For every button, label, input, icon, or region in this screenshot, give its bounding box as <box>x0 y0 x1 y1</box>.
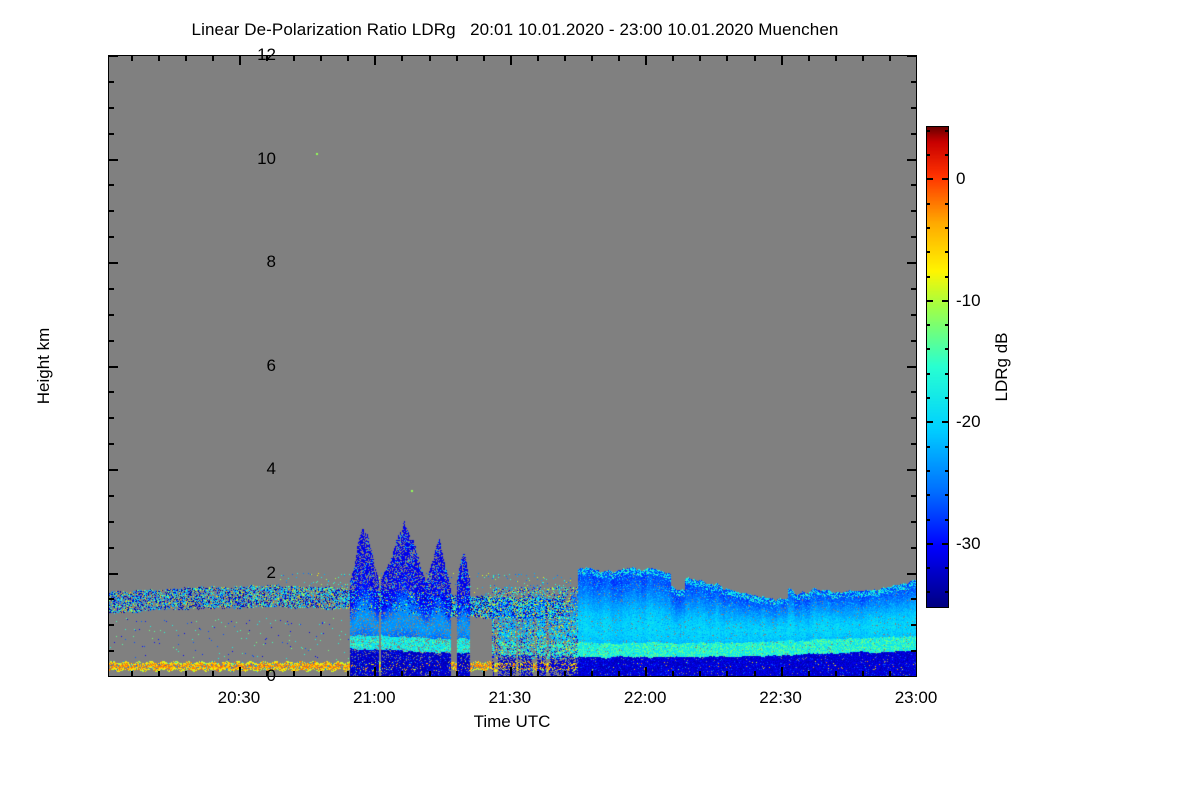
colorbar-tick-minor <box>945 348 949 350</box>
y-tick-minor <box>109 288 114 290</box>
y-tick-minor <box>911 417 916 419</box>
x-tick-major <box>781 667 783 676</box>
x-tick-major <box>239 667 241 676</box>
colorbar-gradient <box>926 126 949 608</box>
y-tick-minor <box>911 391 916 393</box>
x-tick-minor <box>808 56 810 61</box>
x-tick-minor <box>429 56 431 61</box>
x-tick-major <box>374 667 376 676</box>
x-tick-label: 22:30 <box>759 688 802 708</box>
y-tick-major <box>109 366 118 368</box>
y-tick-minor <box>109 184 114 186</box>
heatmap-canvas <box>109 56 917 677</box>
y-tick-minor <box>911 443 916 445</box>
colorbar-tick-minor <box>926 397 930 399</box>
x-tick-minor <box>754 56 756 61</box>
x-tick-minor <box>212 56 214 61</box>
x-tick-minor <box>537 56 539 61</box>
colorbar-tick-minor <box>945 446 949 448</box>
y-tick-minor <box>109 107 114 109</box>
x-tick-minor <box>591 671 593 676</box>
y-tick-minor <box>911 210 916 212</box>
x-tick-minor <box>456 671 458 676</box>
x-tick-minor <box>131 671 133 676</box>
y-tick-major <box>109 469 118 471</box>
x-tick-minor <box>483 56 485 61</box>
colorbar-tick-minor <box>926 567 930 569</box>
colorbar-tick-minor <box>945 494 949 496</box>
colorbar-tick-minor <box>945 227 949 229</box>
y-tick-minor <box>109 314 114 316</box>
colorbar-tick-minor <box>945 154 949 156</box>
x-tick-major <box>781 56 783 65</box>
y-tick-minor <box>109 495 114 497</box>
y-tick-minor <box>911 81 916 83</box>
colorbar-tick-major <box>942 421 949 423</box>
x-tick-major <box>916 667 917 676</box>
colorbar-tick-label: -10 <box>956 291 981 311</box>
colorbar-tick-minor <box>945 373 949 375</box>
y-tick-minor <box>109 443 114 445</box>
x-tick-label: 23:00 <box>895 688 938 708</box>
colorbar-tick-minor <box>945 567 949 569</box>
colorbar-tick-minor <box>926 348 930 350</box>
x-tick-minor <box>401 671 403 676</box>
x-tick-minor <box>889 671 891 676</box>
y-tick-minor <box>109 391 114 393</box>
x-tick-minor <box>347 671 349 676</box>
x-tick-major <box>510 667 512 676</box>
colorbar-tick-major <box>926 421 933 423</box>
colorbar-tick-minor <box>945 470 949 472</box>
radar-figure: Linear De-Polarization Ratio LDRg 20:01 … <box>0 0 1200 800</box>
x-tick-minor <box>835 56 837 61</box>
colorbar-tick-minor <box>926 373 930 375</box>
y-tick-major <box>109 55 118 57</box>
x-tick-minor <box>862 671 864 676</box>
plot-area <box>108 55 917 677</box>
y-tick-label: 6 <box>267 356 276 376</box>
colorbar-tick-minor <box>926 130 930 132</box>
colorbar-tick-label: -20 <box>956 412 981 432</box>
y-axis-title: Height km <box>34 328 54 405</box>
y-tick-minor <box>109 210 114 212</box>
x-tick-minor <box>537 671 539 676</box>
y-tick-minor <box>109 650 114 652</box>
colorbar-tick-minor <box>945 519 949 521</box>
x-tick-minor <box>347 56 349 61</box>
x-tick-minor <box>564 56 566 61</box>
x-tick-minor <box>185 671 187 676</box>
colorbar-tick-minor <box>926 591 930 593</box>
y-tick-major <box>907 262 916 264</box>
x-tick-major <box>239 56 241 65</box>
colorbar-title: LDRg dB <box>992 333 1012 402</box>
x-tick-minor <box>429 671 431 676</box>
y-tick-label: 12 <box>257 45 276 65</box>
colorbar-tick-minor <box>945 276 949 278</box>
page-title: Linear De-Polarization Ratio LDRg 20:01 … <box>0 20 1030 40</box>
x-tick-minor <box>889 56 891 61</box>
x-tick-minor <box>672 671 674 676</box>
colorbar-tick-minor <box>926 276 930 278</box>
y-tick-major <box>109 262 118 264</box>
colorbar-tick-major <box>942 178 949 180</box>
y-tick-minor <box>911 236 916 238</box>
y-tick-major <box>907 159 916 161</box>
colorbar-tick-minor <box>926 251 930 253</box>
y-tick-minor <box>911 340 916 342</box>
y-tick-minor <box>109 236 114 238</box>
y-tick-minor <box>109 340 114 342</box>
colorbar-tick-minor <box>945 130 949 132</box>
x-tick-label: 21:30 <box>488 688 531 708</box>
y-tick-minor <box>109 81 114 83</box>
x-tick-minor <box>212 671 214 676</box>
x-tick-minor <box>293 56 295 61</box>
y-tick-minor <box>911 547 916 549</box>
x-tick-minor <box>808 671 810 676</box>
y-tick-minor <box>109 598 114 600</box>
colorbar-tick-major <box>926 543 933 545</box>
x-tick-minor <box>564 671 566 676</box>
colorbar-tick-major <box>926 300 933 302</box>
y-tick-major <box>907 469 916 471</box>
x-tick-minor <box>699 671 701 676</box>
colorbar-tick-label: 0 <box>956 169 965 189</box>
y-tick-minor <box>911 133 916 135</box>
x-tick-minor <box>835 671 837 676</box>
y-tick-minor <box>911 495 916 497</box>
y-tick-minor <box>109 133 114 135</box>
colorbar-tick-minor <box>945 324 949 326</box>
x-tick-major <box>645 56 647 65</box>
x-tick-minor <box>618 56 620 61</box>
colorbar-tick-minor <box>945 203 949 205</box>
y-tick-major <box>907 55 916 57</box>
y-tick-label: 10 <box>257 149 276 169</box>
colorbar-tick-major <box>926 178 933 180</box>
colorbar-tick-minor <box>926 324 930 326</box>
y-tick-major <box>907 573 916 575</box>
y-tick-minor <box>911 288 916 290</box>
y-tick-minor <box>109 521 114 523</box>
x-tick-minor <box>320 56 322 61</box>
y-tick-label: 4 <box>267 459 276 479</box>
x-tick-minor <box>401 56 403 61</box>
y-tick-major <box>109 159 118 161</box>
y-tick-major <box>109 573 118 575</box>
y-tick-minor <box>911 598 916 600</box>
y-tick-major <box>109 676 118 677</box>
x-tick-minor <box>726 671 728 676</box>
colorbar-tick-minor <box>945 251 949 253</box>
x-tick-label: 22:00 <box>624 688 667 708</box>
y-tick-minor <box>109 547 114 549</box>
x-tick-minor <box>699 56 701 61</box>
y-tick-minor <box>911 650 916 652</box>
colorbar-tick-minor <box>926 470 930 472</box>
x-tick-minor <box>672 56 674 61</box>
y-tick-label: 2 <box>267 563 276 583</box>
colorbar-tick-minor <box>945 397 949 399</box>
colorbar-tick-label: -30 <box>956 534 981 554</box>
x-tick-major <box>916 56 917 65</box>
y-tick-major <box>907 366 916 368</box>
colorbar-tick-minor <box>926 203 930 205</box>
y-tick-minor <box>911 184 916 186</box>
x-tick-minor <box>862 56 864 61</box>
colorbar <box>926 126 949 608</box>
x-tick-minor <box>320 671 322 676</box>
y-tick-label: 0 <box>267 666 276 686</box>
y-tick-minor <box>109 624 114 626</box>
x-tick-minor <box>158 671 160 676</box>
x-tick-label: 20:30 <box>218 688 261 708</box>
colorbar-tick-minor <box>926 494 930 496</box>
x-tick-minor <box>131 56 133 61</box>
y-tick-minor <box>911 521 916 523</box>
y-tick-minor <box>911 314 916 316</box>
x-tick-minor <box>483 671 485 676</box>
x-tick-minor <box>618 671 620 676</box>
y-tick-minor <box>911 624 916 626</box>
x-tick-minor <box>456 56 458 61</box>
x-tick-minor <box>158 56 160 61</box>
x-tick-label: 21:00 <box>353 688 396 708</box>
colorbar-tick-minor <box>926 519 930 521</box>
x-tick-major <box>510 56 512 65</box>
x-tick-minor <box>185 56 187 61</box>
x-tick-minor <box>293 671 295 676</box>
y-tick-label: 8 <box>267 252 276 272</box>
x-tick-major <box>374 56 376 65</box>
x-tick-minor <box>591 56 593 61</box>
x-tick-minor <box>726 56 728 61</box>
colorbar-tick-minor <box>926 154 930 156</box>
colorbar-tick-major <box>942 543 949 545</box>
y-tick-major <box>907 676 916 677</box>
colorbar-tick-minor <box>945 591 949 593</box>
x-tick-minor <box>754 671 756 676</box>
y-tick-minor <box>911 107 916 109</box>
x-axis-title: Time UTC <box>474 712 551 732</box>
colorbar-tick-minor <box>926 446 930 448</box>
y-tick-minor <box>109 417 114 419</box>
x-tick-major <box>645 667 647 676</box>
colorbar-tick-minor <box>926 227 930 229</box>
colorbar-tick-major <box>942 300 949 302</box>
